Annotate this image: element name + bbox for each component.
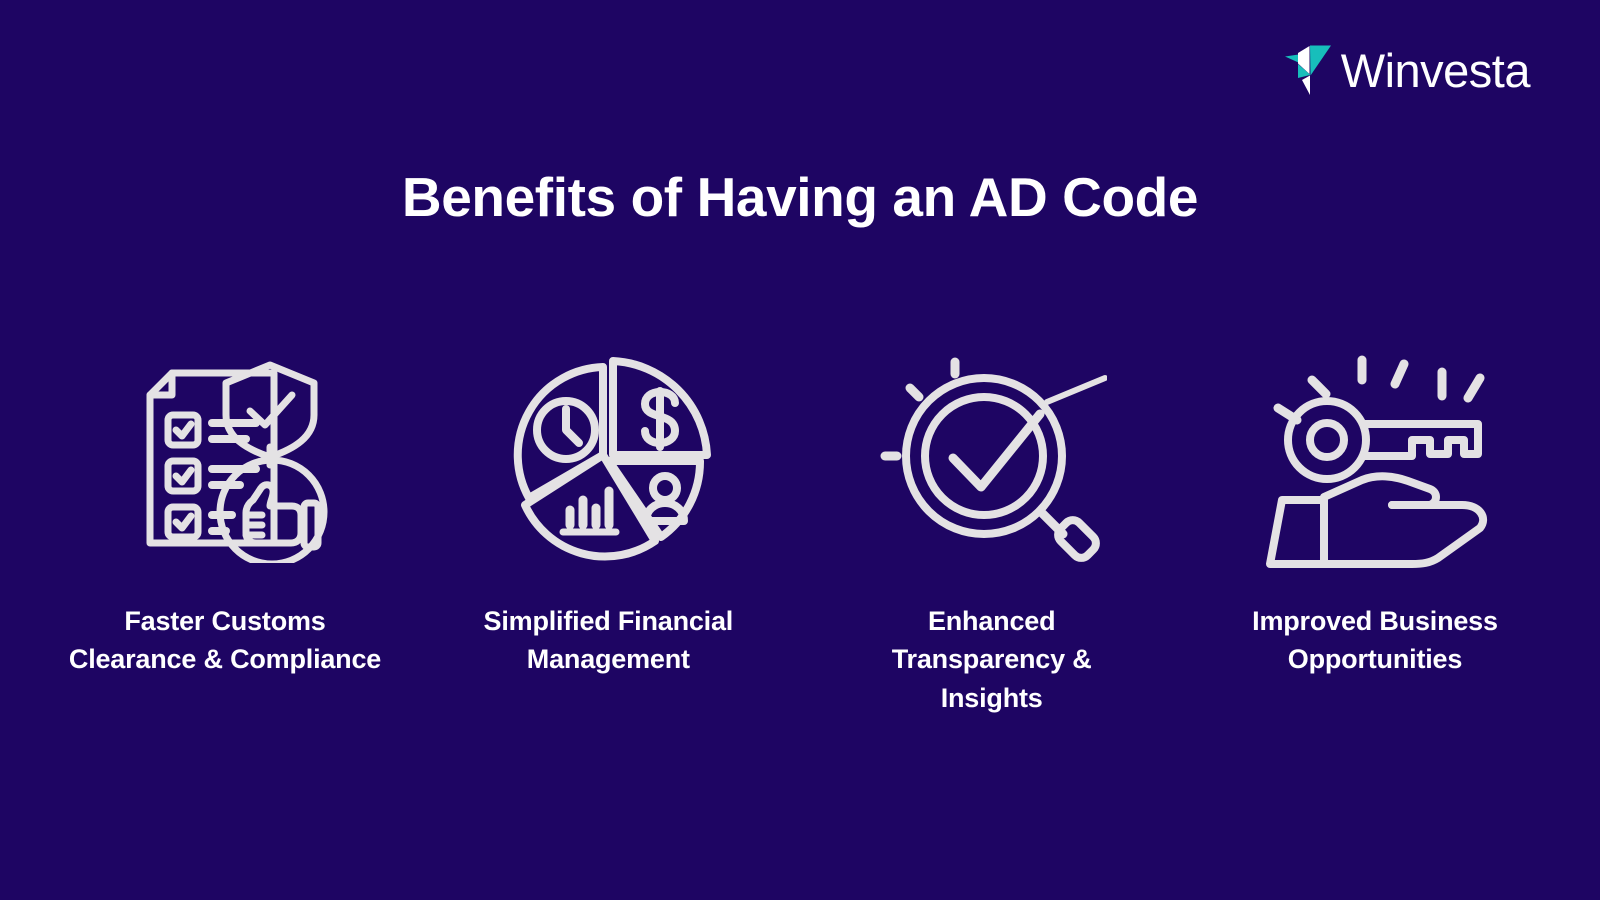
benefit-item-simplified-financial: Simplified Financial Management [423,340,793,679]
pie-chart-finance-icon [503,340,713,580]
benefit-label: Faster Customs Clearance & Compliance [60,602,390,679]
brand-logo: Winvesta [1285,44,1530,96]
infographic-slide: Winvesta Benefits of Having an AD Code [0,0,1600,900]
benefit-label: Enhanced Transparency & Insights [866,602,1118,717]
magnifier-checkmark-icon [877,340,1107,580]
benefits-row: Faster Customs Clearance & Compliance [40,340,1560,717]
brand-name: Winvesta [1341,47,1530,94]
page-title: Benefits of Having an AD Code [0,166,1600,229]
benefit-item-enhanced-transparency: Enhanced Transparency & Insights [807,340,1177,717]
benefit-label: Simplified Financial Management [458,602,758,679]
hand-holding-key-icon [1252,340,1497,580]
benefit-label: Improved Business Opportunities [1210,602,1540,679]
benefit-item-improved-business: Improved Business Opportunities [1190,340,1560,679]
winvesta-bird-logo-icon [1285,44,1331,96]
checklist-shield-thumbsup-icon [122,340,328,580]
benefit-item-faster-customs: Faster Customs Clearance & Compliance [40,340,410,679]
